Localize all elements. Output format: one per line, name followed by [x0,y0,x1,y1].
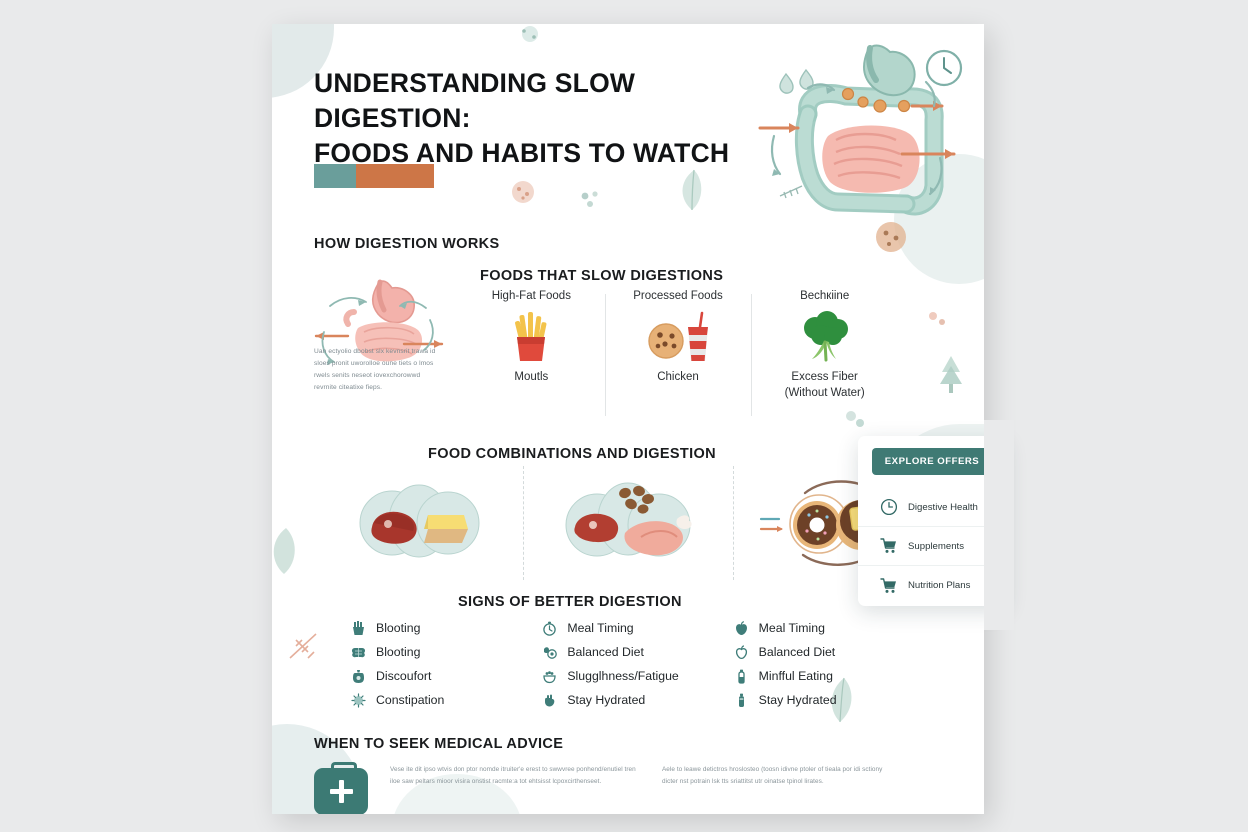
hand-water-icon [541,692,558,709]
foods-that-slow-grid: High-Fat Foods Moutls [458,290,898,430]
list-item-label: Blooting [376,645,420,659]
bottle-icon [733,668,750,685]
section-heading-signs-of-better-digestion: SIGNS OF BETTER DIGESTION [458,594,682,610]
offer-item-label: Supplements [908,541,964,552]
how-digestion-body-text: Uan ectyolio dbobst slx kevnsrit trawa i… [314,346,440,394]
list-item[interactable]: Slugglhness/Fatigue [541,664,718,688]
list-item-label: Balanced Diet [567,645,644,659]
explore-offers-button[interactable]: EXPLORE OFFERS [872,448,992,475]
list-item[interactable]: Balanced Diet [541,640,718,664]
list-item-label: Constipation [376,693,444,707]
list-item[interactable]: Minfful Eating [733,664,910,688]
food-column-title: Processed Foods [633,290,723,302]
bowl-icon [541,668,558,685]
medical-bag-icon [314,768,368,814]
list-item-label: Meal Timing [759,621,825,635]
signs-grid: Blooting Blooting Discoufort [350,616,910,712]
decor-tree-icon [934,352,968,396]
food-column-subtitle: Chicken [657,370,699,386]
venn-steak-chicken-nuts [523,464,732,582]
list-item[interactable]: Blooting [350,640,527,664]
decor-leaf-left [272,524,304,576]
list-item[interactable]: Stay Hydrated [541,688,718,712]
list-item-label: Minfful Eating [759,669,833,683]
signs-column-1: Blooting Blooting Discoufort [350,616,527,712]
section-heading-when-to-seek-medical-advice: WHEN TO SEEK MEDICAL ADVICE [314,736,563,752]
food-column-subtitle: Excess Fiber (Without Water) [785,370,865,402]
signs-column-3: Meal Timing Balanced Diet Minfful Eating [733,616,910,712]
offer-item-label: Nutrition Plans [908,580,970,591]
clock-icon [541,620,558,637]
list-item-label: Slugglhness/Fatigue [567,669,678,683]
list-item[interactable]: Stay Hydrated [733,688,910,712]
list-item[interactable]: Constipation [350,688,527,712]
food-column-processed: Processed Foods Ch [605,290,752,430]
cart-icon [880,537,898,555]
food-subtitle-line-2: (Without Water) [785,387,865,399]
accent-bar-orange [356,164,434,188]
section-heading-foods-that-slow-digestion: FOODS THAT SLOW DIGESTIONS [480,268,723,284]
decor-leaf-top [670,166,712,212]
list-item-label: Blooting [376,621,420,635]
list-item-label: Meal Timing [567,621,633,635]
list-item-label: Discoufort [376,669,431,683]
food-column-title: Bechкiine [800,290,849,302]
fries-icon [350,620,367,637]
decor-cookie-crumb [505,174,541,210]
medical-advice-paragraph-1: Vese ite dit ipso wtvis don ptor nomde i… [390,764,640,789]
digestive-system-illustration [750,36,982,232]
venn-steak-butter [314,464,523,582]
list-item[interactable]: Discoufort [350,664,527,688]
food-column-high-fat: High-Fat Foods Moutls [458,290,605,430]
cookie-soda-icon [645,308,711,366]
section-heading-how-digestion-works: HOW DIGESTION WORKS [314,236,499,252]
french-fries-icon [509,308,553,366]
broccoli-icon [798,308,852,366]
offer-item-label: Digestive Health [908,502,978,513]
medical-advice-row: Vese ite dit ipso wtvis don ptor nomde i… [314,764,924,814]
list-item[interactable]: Blooting [350,616,527,640]
list-item-label: Balanced Diet [759,645,836,659]
decor-dots-top [510,24,550,58]
cart-icon [880,577,898,595]
food-combinations-grid [314,464,942,582]
list-item[interactable]: Balanced Diet [733,640,910,664]
bottle-filled-icon [733,692,750,709]
title-line-1: UNDERSTANDING SLOW DIGESTION: [314,68,635,133]
section-heading-food-combinations: FOOD COMBINATIONS AND DIGESTION [428,446,716,462]
brain-icon [350,644,367,661]
accent-bar-teal [314,164,356,188]
list-item-label: Stay Hydrated [567,693,645,707]
list-item[interactable]: Meal Timing [541,616,718,640]
balanced-diet-icon [541,644,558,661]
screen-background: UNDERSTANDING SLOW DIGESTION: FOODS AND … [0,0,1248,832]
stomach-bag-icon [350,668,367,685]
list-item[interactable]: Meal Timing [733,616,910,640]
list-item-label: Stay Hydrated [759,693,837,707]
accent-bar [314,164,434,188]
apple-outline-icon [733,644,750,661]
decor-microbe-dots [577,188,607,214]
food-column-subtitle: Moutls [514,370,548,386]
panel-clip-mask [984,420,1014,630]
decor-microbe-small [924,306,950,332]
apple-icon [733,620,750,637]
food-column-title: High-Fat Foods [492,290,571,302]
food-column-fiber: Bechкiine Exce [751,290,898,430]
medical-advice-paragraph-2: Aele to leawe detictros hroslosteo (toos… [662,764,892,789]
page-title: UNDERSTANDING SLOW DIGESTION: FOODS AND … [314,66,754,171]
infographic-poster: UNDERSTANDING SLOW DIGESTION: FOODS AND … [272,24,984,814]
clock-icon [880,498,898,516]
decor-wheat-left [282,624,324,666]
bacteria-icon [350,692,367,709]
signs-column-2: Meal Timing Balanced Diet Slugglhness/Fa… [541,616,718,712]
food-subtitle-line-1: Excess Fiber [791,371,857,383]
